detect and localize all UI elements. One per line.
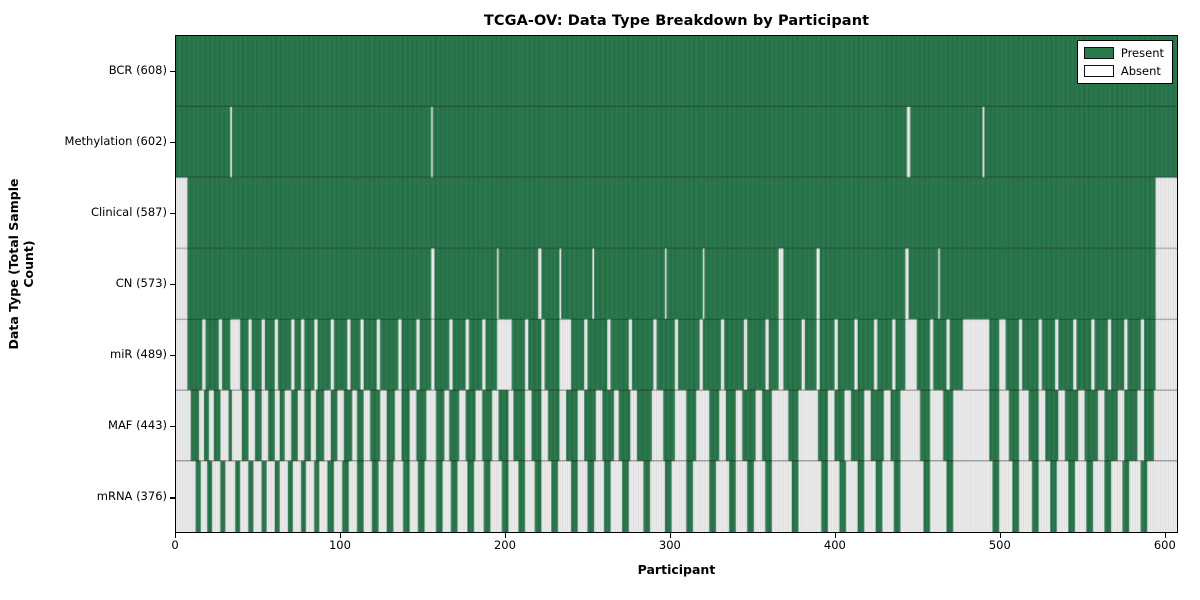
legend-swatch-present (1084, 47, 1114, 59)
y-tick-label-maf: MAF (443) (108, 418, 167, 432)
x-tick-label-400: 400 (805, 538, 865, 552)
y-tick-label-mrna: mRNA (376) (97, 489, 167, 503)
heatmap-canvas (176, 36, 1177, 532)
x-tick-label-100: 100 (310, 538, 370, 552)
y-tick-label-bcr: BCR (608) (109, 63, 167, 77)
legend-item-absent[interactable]: Absent (1084, 64, 1164, 78)
legend-item-present[interactable]: Present (1084, 46, 1164, 60)
x-tick-label-0: 0 (145, 538, 205, 552)
legend-label-absent: Absent (1121, 64, 1161, 78)
x-axis-label: Participant (175, 562, 1178, 577)
plot-area[interactable]: PresentAbsent (175, 35, 1178, 533)
y-tick-label-mir: miR (489) (110, 347, 167, 361)
y-tick-label-clinical: Clinical (587) (91, 205, 167, 219)
legend: PresentAbsent (1077, 40, 1173, 84)
x-tick-label-200: 200 (475, 538, 535, 552)
legend-swatch-absent (1084, 65, 1114, 77)
y-tick-label-cn: CN (573) (116, 276, 167, 290)
y-axis-label: Data Type (Total Sample Count) (6, 164, 36, 364)
legend-label-present: Present (1121, 46, 1164, 60)
x-tick-label-500: 500 (970, 538, 1030, 552)
chart-title: TCGA-OV: Data Type Breakdown by Particip… (175, 13, 1178, 29)
y-tick-label-methylation: Methylation (602) (65, 134, 167, 148)
figure-canvas: TCGA-OV: Data Type Breakdown by Particip… (0, 0, 1200, 600)
x-tick-label-300: 300 (640, 538, 700, 552)
x-tick-label-600: 600 (1135, 538, 1195, 552)
